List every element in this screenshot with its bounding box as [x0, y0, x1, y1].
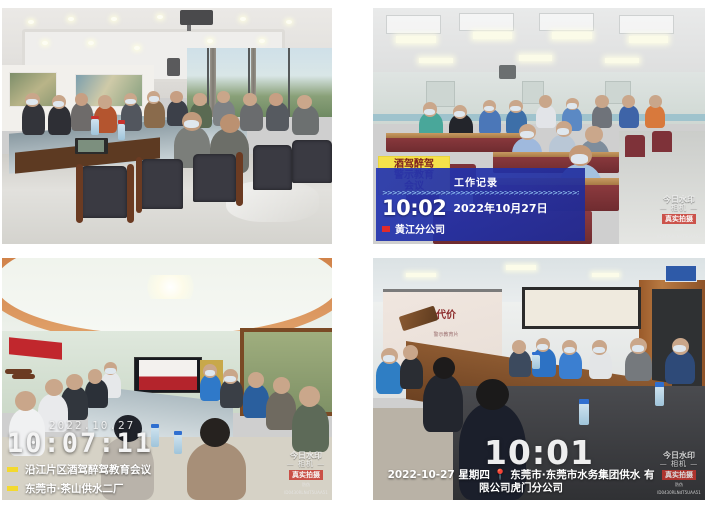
wall-speaker	[167, 58, 180, 77]
digital-clock-overlay: 2022.10.27 10:07:11 沿江片区酒驾醉驾教育会议 东莞市·茶山供…	[7, 419, 212, 496]
overlay-line-1: 沿江片区酒驾醉驾教育会议	[7, 462, 212, 477]
time-row: 10:02 2022年10月27日	[382, 198, 579, 218]
photo-top-left-content	[2, 8, 332, 244]
watermark-line-1: 今日水印	[656, 452, 702, 460]
watermark-footnote: 防伪 ID0430RLNdT5UAA51	[656, 225, 702, 241]
watermark-line-2: — 相机 —	[656, 204, 702, 212]
bullet-square-icon	[7, 486, 18, 491]
overlay-time: 10:02	[382, 198, 446, 218]
watermark-badge: 真实拍摄	[289, 470, 323, 480]
watermark-blue-card: 工作记录 >>>>>>>>>>>>>>>>>>>>>>>>>>>>>>>>>>>…	[376, 168, 585, 241]
overlay-date: 2022年10月27日	[453, 200, 547, 218]
overlay-date: 2022-10-27 星期四	[388, 469, 490, 481]
watermark-footnote: 防伪 ID0430RLNdT5UAA51	[656, 481, 702, 497]
watermark-footnote: 防伪 ID0430RLNdT5UAA51	[283, 481, 329, 497]
camera-watermark-logo: 今日水印 — 相机 — 真实拍摄 防伪 ID0430RLNdT5UAA51	[283, 452, 329, 497]
photo-top-right[interactable]: 酒驾醉驾 警示教育 会议 工作记录 >>>>>>>>>>>>>>>>>>>>>>…	[373, 8, 705, 244]
watermark-card-top-right: 酒驾醉驾 警示教育 会议 工作记录 >>>>>>>>>>>>>>>>>>>>>>…	[376, 168, 585, 241]
overlay-location: 黄江分公司	[395, 221, 445, 236]
wall-speaker	[499, 65, 516, 79]
watermark-line-2: — 相机 —	[283, 460, 329, 468]
watermark-badge: 真实拍摄	[662, 214, 696, 224]
watermark-line-1: 今日水印	[283, 452, 329, 460]
chandelier	[141, 275, 200, 299]
overlay-location-line1: 东莞市·东莞市水务集团供水	[510, 469, 640, 481]
work-log-title: 工作记录	[454, 174, 579, 189]
laptop	[75, 138, 108, 155]
overlay-meeting-name: 沿江片区酒驾醉驾教育会议	[25, 462, 151, 477]
marker-square-icon	[382, 226, 390, 232]
camera-watermark-logo: 今日水印 — 相机 — 真实拍摄 防伪 ID0430RLNdT5UAA51	[656, 196, 702, 241]
photo-grid: 酒驾醉驾 警示教育 会议 工作记录 >>>>>>>>>>>>>>>>>>>>>>…	[0, 0, 707, 508]
watermark-line-2: — 相机 —	[656, 460, 702, 468]
watermark-line-1: 今日水印	[656, 196, 702, 204]
ceiling-projector-icon	[180, 10, 213, 24]
location-row: 黄江分公司	[382, 221, 579, 236]
slide-title: 代价	[429, 311, 462, 328]
overlay-site-name: 东莞市·茶山供水二厂	[25, 481, 124, 496]
overlay-clock: 10:07:11	[7, 430, 212, 458]
room-number-sign	[665, 265, 697, 282]
overlay-line-2: 东莞市·茶山供水二厂	[7, 481, 212, 496]
photo-bottom-right[interactable]: 代价 警示教育片	[373, 258, 705, 500]
slide-subtitle: 警示教育片	[416, 331, 476, 343]
photo-top-left[interactable]	[2, 8, 332, 244]
photo-bottom-left[interactable]: 2022.10.27 10:07:11 沿江片区酒驾醉驾教育会议 东莞市·茶山供…	[2, 258, 332, 500]
location-pin-icon: 📍	[494, 469, 507, 481]
tv-display	[134, 357, 202, 393]
camera-watermark-logo: 今日水印 — 相机 — 真实拍摄 防伪 ID0430RLNdT5UAA51	[656, 452, 702, 497]
calligraphy-scroll	[522, 287, 641, 329]
overlay-date: 2022.10.27	[49, 419, 212, 432]
bullet-square-icon	[7, 467, 18, 472]
watermark-badge: 真实拍摄	[662, 470, 696, 480]
